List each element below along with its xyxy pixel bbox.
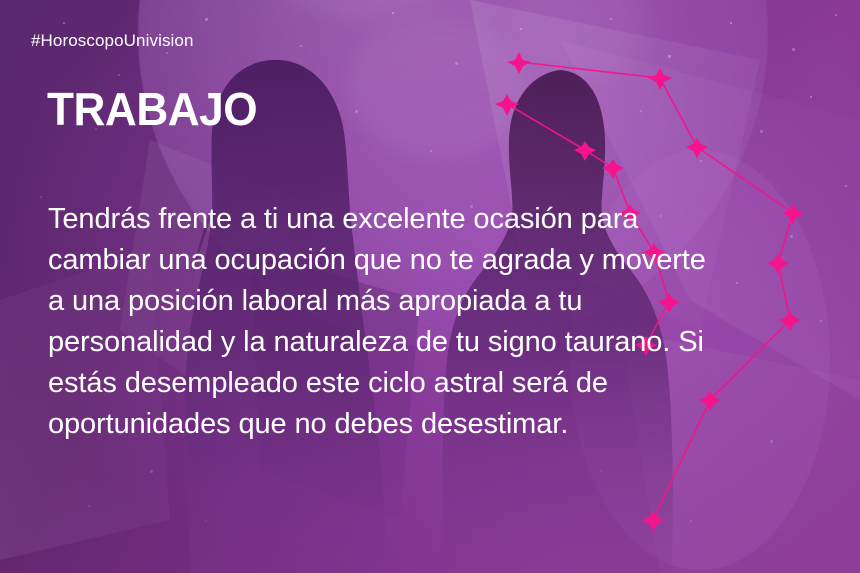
body-line: Tendrás frente a ti una excelente ocasió…	[48, 199, 818, 240]
body-line: cambiar una ocupación que no te agrada y…	[48, 240, 818, 281]
horoscope-body: Tendrás frente a ti una excelente ocasió…	[48, 199, 818, 445]
horoscope-card: #HoroscopoUnivision TRABAJO Tendrás fren…	[0, 0, 860, 573]
hashtag: #HoroscopoUnivision	[31, 31, 194, 51]
page-title: TRABAJO	[47, 86, 257, 132]
body-line: a una posición laboral más apropiada a t…	[48, 281, 818, 322]
body-line: estás desempleado este ciclo astral será…	[48, 363, 818, 404]
body-line: oportunidades que no debes desestimar.	[48, 404, 818, 445]
body-line: personalidad y la naturaleza de tu signo…	[48, 322, 818, 363]
